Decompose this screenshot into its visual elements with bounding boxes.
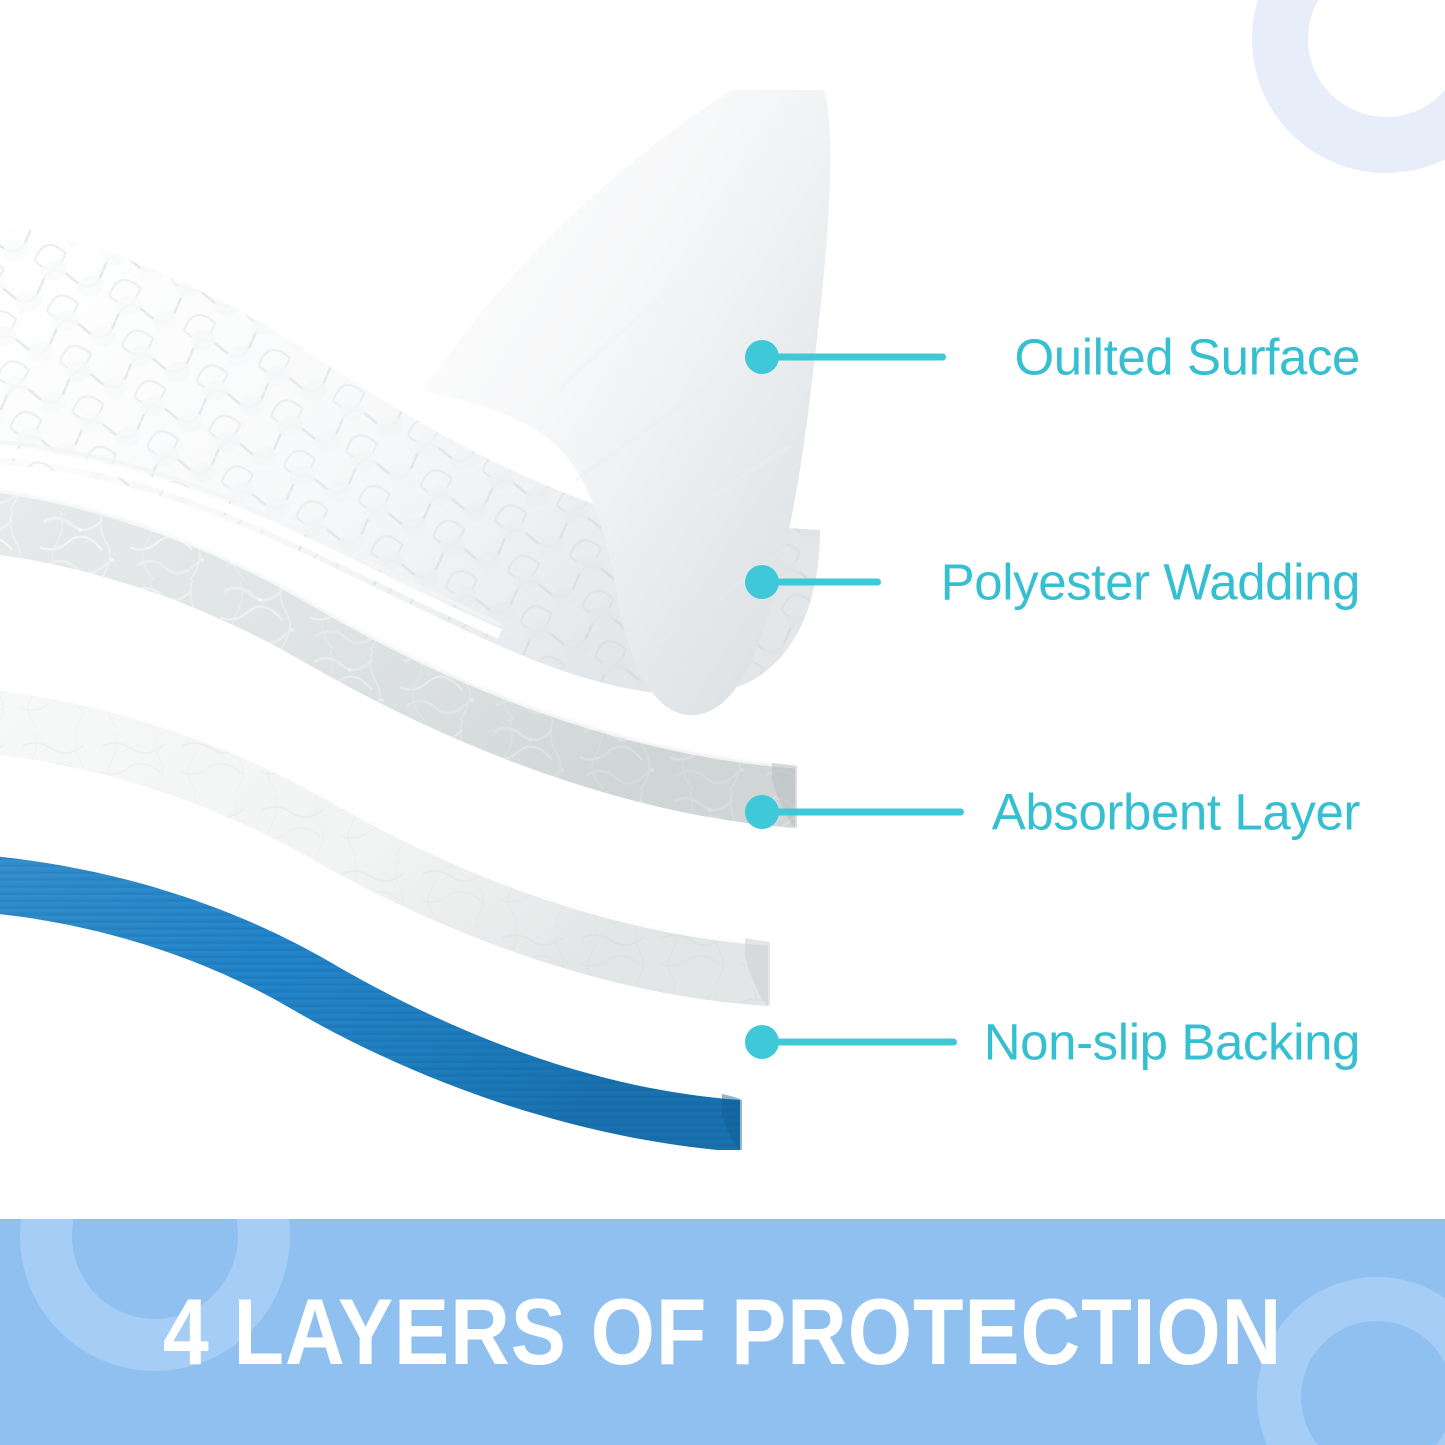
callout-line-icon <box>771 579 881 586</box>
callout-non-slip-backing[interactable]: Non-slip Backing <box>745 1007 1360 1077</box>
callout-line-icon <box>771 354 946 361</box>
bottom-banner: 4 LAYERS OF PROTECTION <box>0 1219 1445 1445</box>
product-layers-illustration <box>0 90 910 1150</box>
callout-quilted-surface[interactable]: Ouilted Surface <box>745 322 1360 392</box>
infographic-page: Ouilted Surface Polyester Wadding Absorb… <box>0 0 1445 1445</box>
callout-label-quilted-surface: Ouilted Surface <box>1014 332 1360 383</box>
callout-line-icon <box>771 1039 957 1046</box>
banner-title: 4 LAYERS OF PROTECTION <box>87 1285 1359 1379</box>
callout-polyester-wadding[interactable]: Polyester Wadding <box>745 547 1360 617</box>
callout-label-non-slip-backing: Non-slip Backing <box>984 1017 1360 1068</box>
callout-label-polyester-wadding: Polyester Wadding <box>941 557 1360 608</box>
callout-absorbent-layer[interactable]: Absorbent Layer <box>745 777 1360 847</box>
callout-label-absorbent-layer: Absorbent Layer <box>992 787 1360 838</box>
callout-line-icon <box>771 809 964 816</box>
corner-ring-icon <box>1252 0 1445 173</box>
